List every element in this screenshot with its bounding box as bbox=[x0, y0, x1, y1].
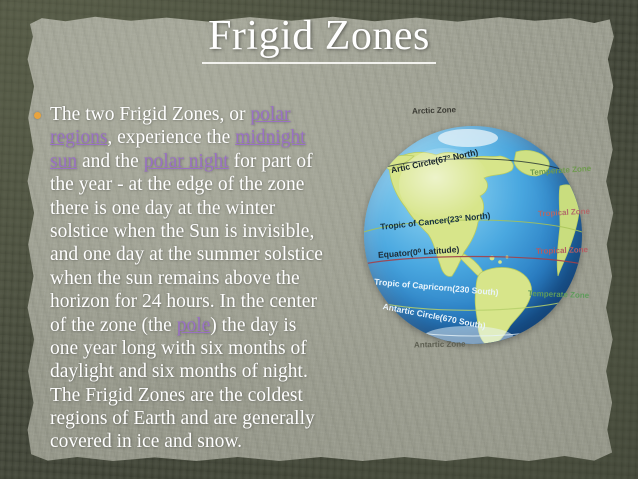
body-text-run: , experience the bbox=[107, 127, 235, 148]
body-hyperlink[interactable]: polar night bbox=[144, 151, 229, 172]
earth-globe bbox=[364, 126, 582, 344]
title-container: Frigid Zones bbox=[0, 14, 638, 64]
central-america-landmass bbox=[460, 254, 483, 276]
bullet-paragraph: The two Frigid Zones, or polar regions, … bbox=[34, 103, 329, 454]
body-text-run: and the bbox=[77, 151, 144, 172]
globe-graphics bbox=[364, 126, 582, 344]
arctic-ice-cap bbox=[438, 129, 498, 147]
body-text-run: The two Frigid Zones, or bbox=[50, 104, 250, 125]
body-text-run: for part of the year - at the edge of th… bbox=[50, 151, 323, 336]
tropic-of-capricorn-line bbox=[368, 298, 578, 310]
body-text: The two Frigid Zones, or polar regions, … bbox=[50, 103, 329, 454]
north-america-landmass bbox=[389, 152, 513, 276]
body-hyperlink[interactable]: pole bbox=[177, 315, 211, 336]
globe-illustration: Arctic Zone Artic Circle(67° North) Trop… bbox=[352, 104, 604, 366]
page-title: Frigid Zones bbox=[202, 14, 436, 64]
globe-label-arctic-zone: Arctic Zone bbox=[412, 105, 456, 116]
bullet-dot-icon bbox=[34, 112, 41, 119]
caribbean-island bbox=[498, 260, 502, 264]
slide: Frigid Zones The two Frigid Zones, or po… bbox=[0, 0, 638, 479]
